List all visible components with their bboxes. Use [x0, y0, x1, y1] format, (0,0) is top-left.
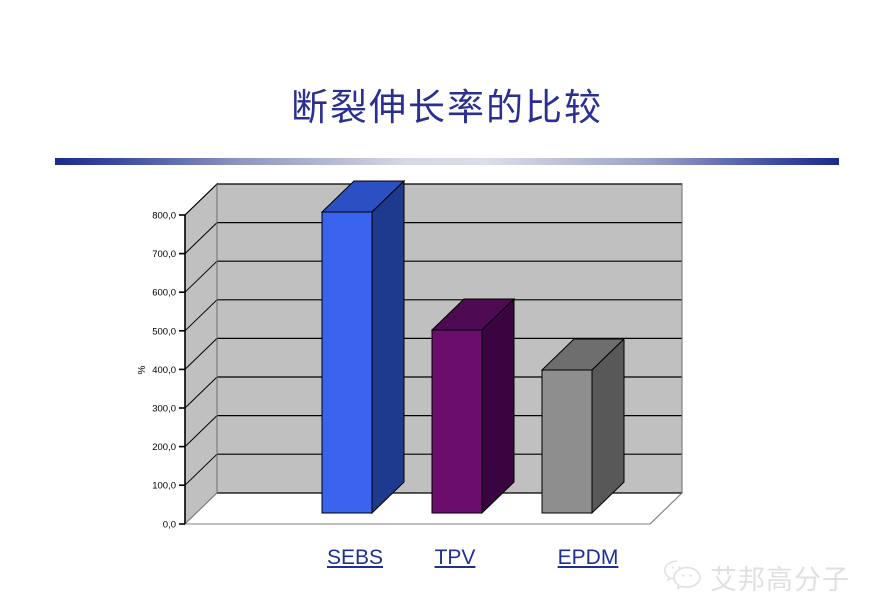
y-tick-label: 500,0: [152, 326, 176, 337]
category-label-tpv[interactable]: TPV: [410, 546, 500, 570]
y-tick-label: 200,0: [152, 442, 176, 453]
chart-y-axis: [179, 215, 185, 524]
chart-y-tick-labels: 800,0 700,0 600,0 500,0 400,0 300,0 200,…: [152, 211, 176, 531]
bar-side-face: [482, 299, 514, 513]
wechat-icon: [663, 559, 701, 596]
y-tick-label: 600,0: [152, 288, 176, 299]
bar-sebs[interactable]: [322, 181, 404, 513]
watermark: 艾邦高分子: [663, 558, 850, 597]
bar-front-face: [322, 212, 372, 513]
y-tick-label: 800,0: [152, 211, 176, 222]
bar-front-face: [432, 330, 482, 513]
chart-canvas: 800,0 700,0 600,0 500,0 400,0 300,0 200,…: [130, 172, 710, 552]
y-tick-label: 0,0: [163, 520, 176, 531]
bar-side-face: [372, 181, 404, 513]
bar-tpv[interactable]: [432, 299, 514, 513]
title-divider: [55, 158, 839, 165]
y-tick-label: 300,0: [152, 404, 176, 415]
y-tick-label: 400,0: [152, 365, 176, 376]
bar-epdm[interactable]: [542, 339, 624, 513]
bar-front-face: [542, 370, 592, 513]
category-label-sebs[interactable]: SEBS: [305, 546, 405, 570]
y-tick-label: 100,0: [152, 481, 176, 492]
y-axis-title: %: [137, 365, 148, 374]
category-label-epdm[interactable]: EPDM: [535, 546, 641, 570]
watermark-text: 艾邦高分子: [710, 558, 850, 597]
page-title: 断裂伸长率的比较: [0, 88, 894, 129]
bar-chart: 800,0 700,0 600,0 500,0 400,0 300,0 200,…: [130, 172, 710, 552]
y-tick-label: 700,0: [152, 249, 176, 260]
bar-side-face: [592, 339, 624, 513]
